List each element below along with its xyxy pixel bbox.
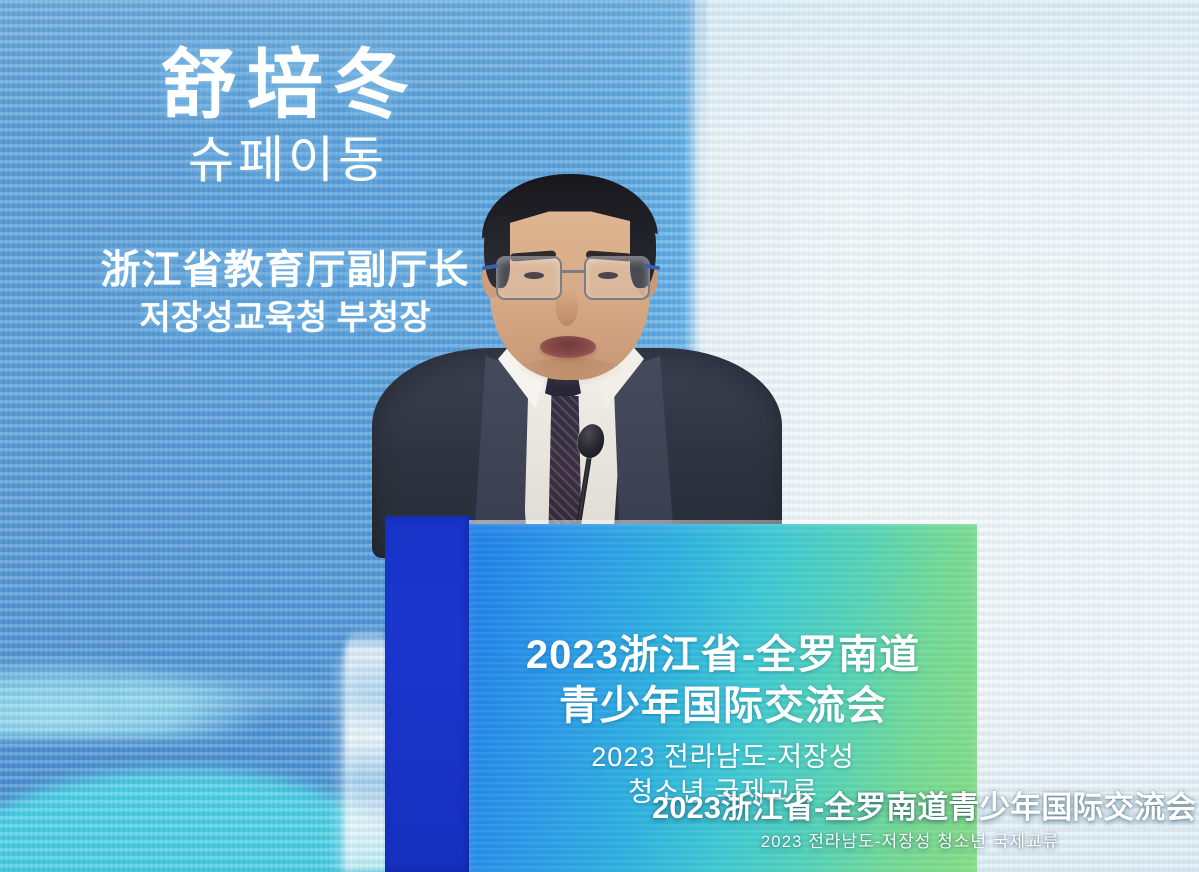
eyeglass-lens-right	[584, 256, 650, 300]
chin-shadow	[514, 358, 626, 386]
eyeglass-bridge	[560, 270, 586, 273]
banner-title-korean: 2023 전라남도-저장성 청소년 국제교류	[652, 832, 1168, 852]
conference-photo-stage: 舒培冬 슈페이동 浙江省教育厅副厅长 저장성교육청 부청장	[0, 0, 1199, 872]
podium-title-chinese-line1: 2023浙江省-全罗南道	[469, 630, 977, 681]
podium-title-korean-line1: 2023 전라남도-저장성	[469, 740, 977, 775]
mouth	[540, 336, 596, 358]
eyeglass-lens-left	[496, 256, 562, 300]
podium-side-panel	[385, 516, 471, 872]
podium-event-title: 2023浙江省-全罗南道 青少年国际交流会 2023 전라남도-저장성 청소년 …	[469, 630, 977, 811]
nose	[556, 288, 578, 326]
banner-title-chinese: 2023浙江省-全罗南道青少年国际交流会	[652, 790, 1168, 827]
lower-third-event-banner: 2023浙江省-全罗南道青少年国际交流会 2023 전라남도-저장성 청소년 국…	[652, 790, 1168, 852]
podium-title-chinese-line2: 青少年国际交流会	[469, 681, 977, 732]
